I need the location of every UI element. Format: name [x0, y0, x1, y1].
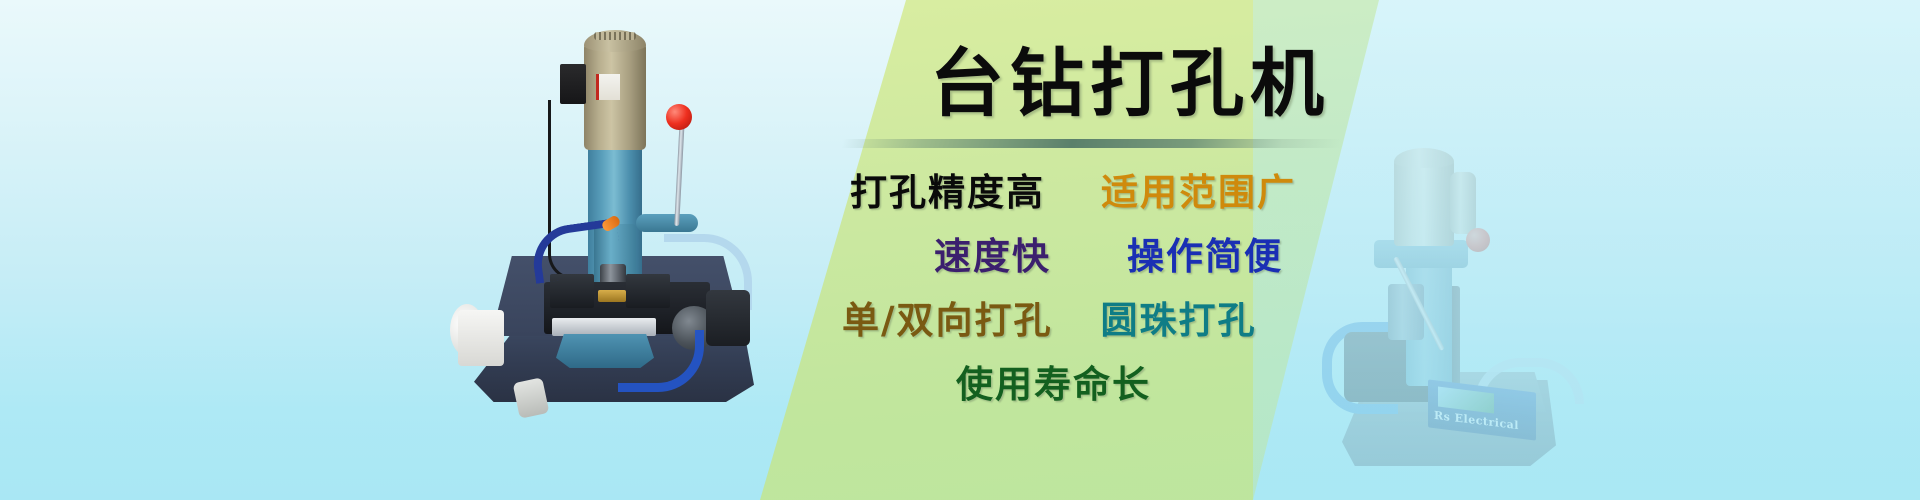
motor-top-cap — [1394, 148, 1454, 168]
feature-row: 使用寿命长 — [838, 360, 1358, 409]
feature-item-1: 打孔精度高 — [850, 168, 1045, 217]
feature-item-3: 速度快 — [934, 232, 1051, 281]
feature-item-5: 单/双向打孔 — [842, 296, 1053, 345]
white-control-box — [458, 310, 504, 366]
feature-list: 打孔精度高 适用范围广 速度快 操作简便 单/双向打孔 圆珠打孔 使用寿命长 — [838, 168, 1358, 424]
right-machine-image: Rs Electrical — [1322, 136, 1622, 496]
page-title: 台钻打孔机 — [930, 44, 1330, 124]
product-banner: Rs Electrical 台钻打孔机 打孔精度高 适用范围广 速度快 操作简便… — [0, 0, 1920, 500]
feature-item-2: 适用范围广 — [1101, 168, 1296, 217]
red-lever-knob — [666, 104, 692, 130]
feed-lever-hub — [636, 214, 698, 232]
brass-workpiece — [598, 290, 626, 302]
feature-row: 单/双向打孔 圆珠打孔 — [838, 296, 1358, 345]
feature-item-6: 圆珠打孔 — [1101, 296, 1257, 345]
motor-vent-slots — [594, 32, 636, 40]
coolant-pump — [706, 290, 750, 346]
feature-row: 速度快 操作简便 — [838, 232, 1358, 281]
title-divider — [841, 139, 1343, 148]
vise-jaw-right — [626, 274, 670, 308]
feature-row: 打孔精度高 适用范围广 — [838, 168, 1358, 217]
feature-item-7: 使用寿命长 — [956, 360, 1151, 409]
red-lever-knob — [1466, 228, 1490, 252]
drill-head — [1388, 284, 1424, 340]
feed-lever-rod — [674, 118, 685, 226]
motor-spec-label — [596, 74, 620, 100]
capacitor-housing — [1450, 172, 1476, 234]
left-machine-image — [440, 18, 780, 470]
junction-box — [560, 64, 586, 104]
feature-item-4: 操作简便 — [1127, 232, 1283, 281]
